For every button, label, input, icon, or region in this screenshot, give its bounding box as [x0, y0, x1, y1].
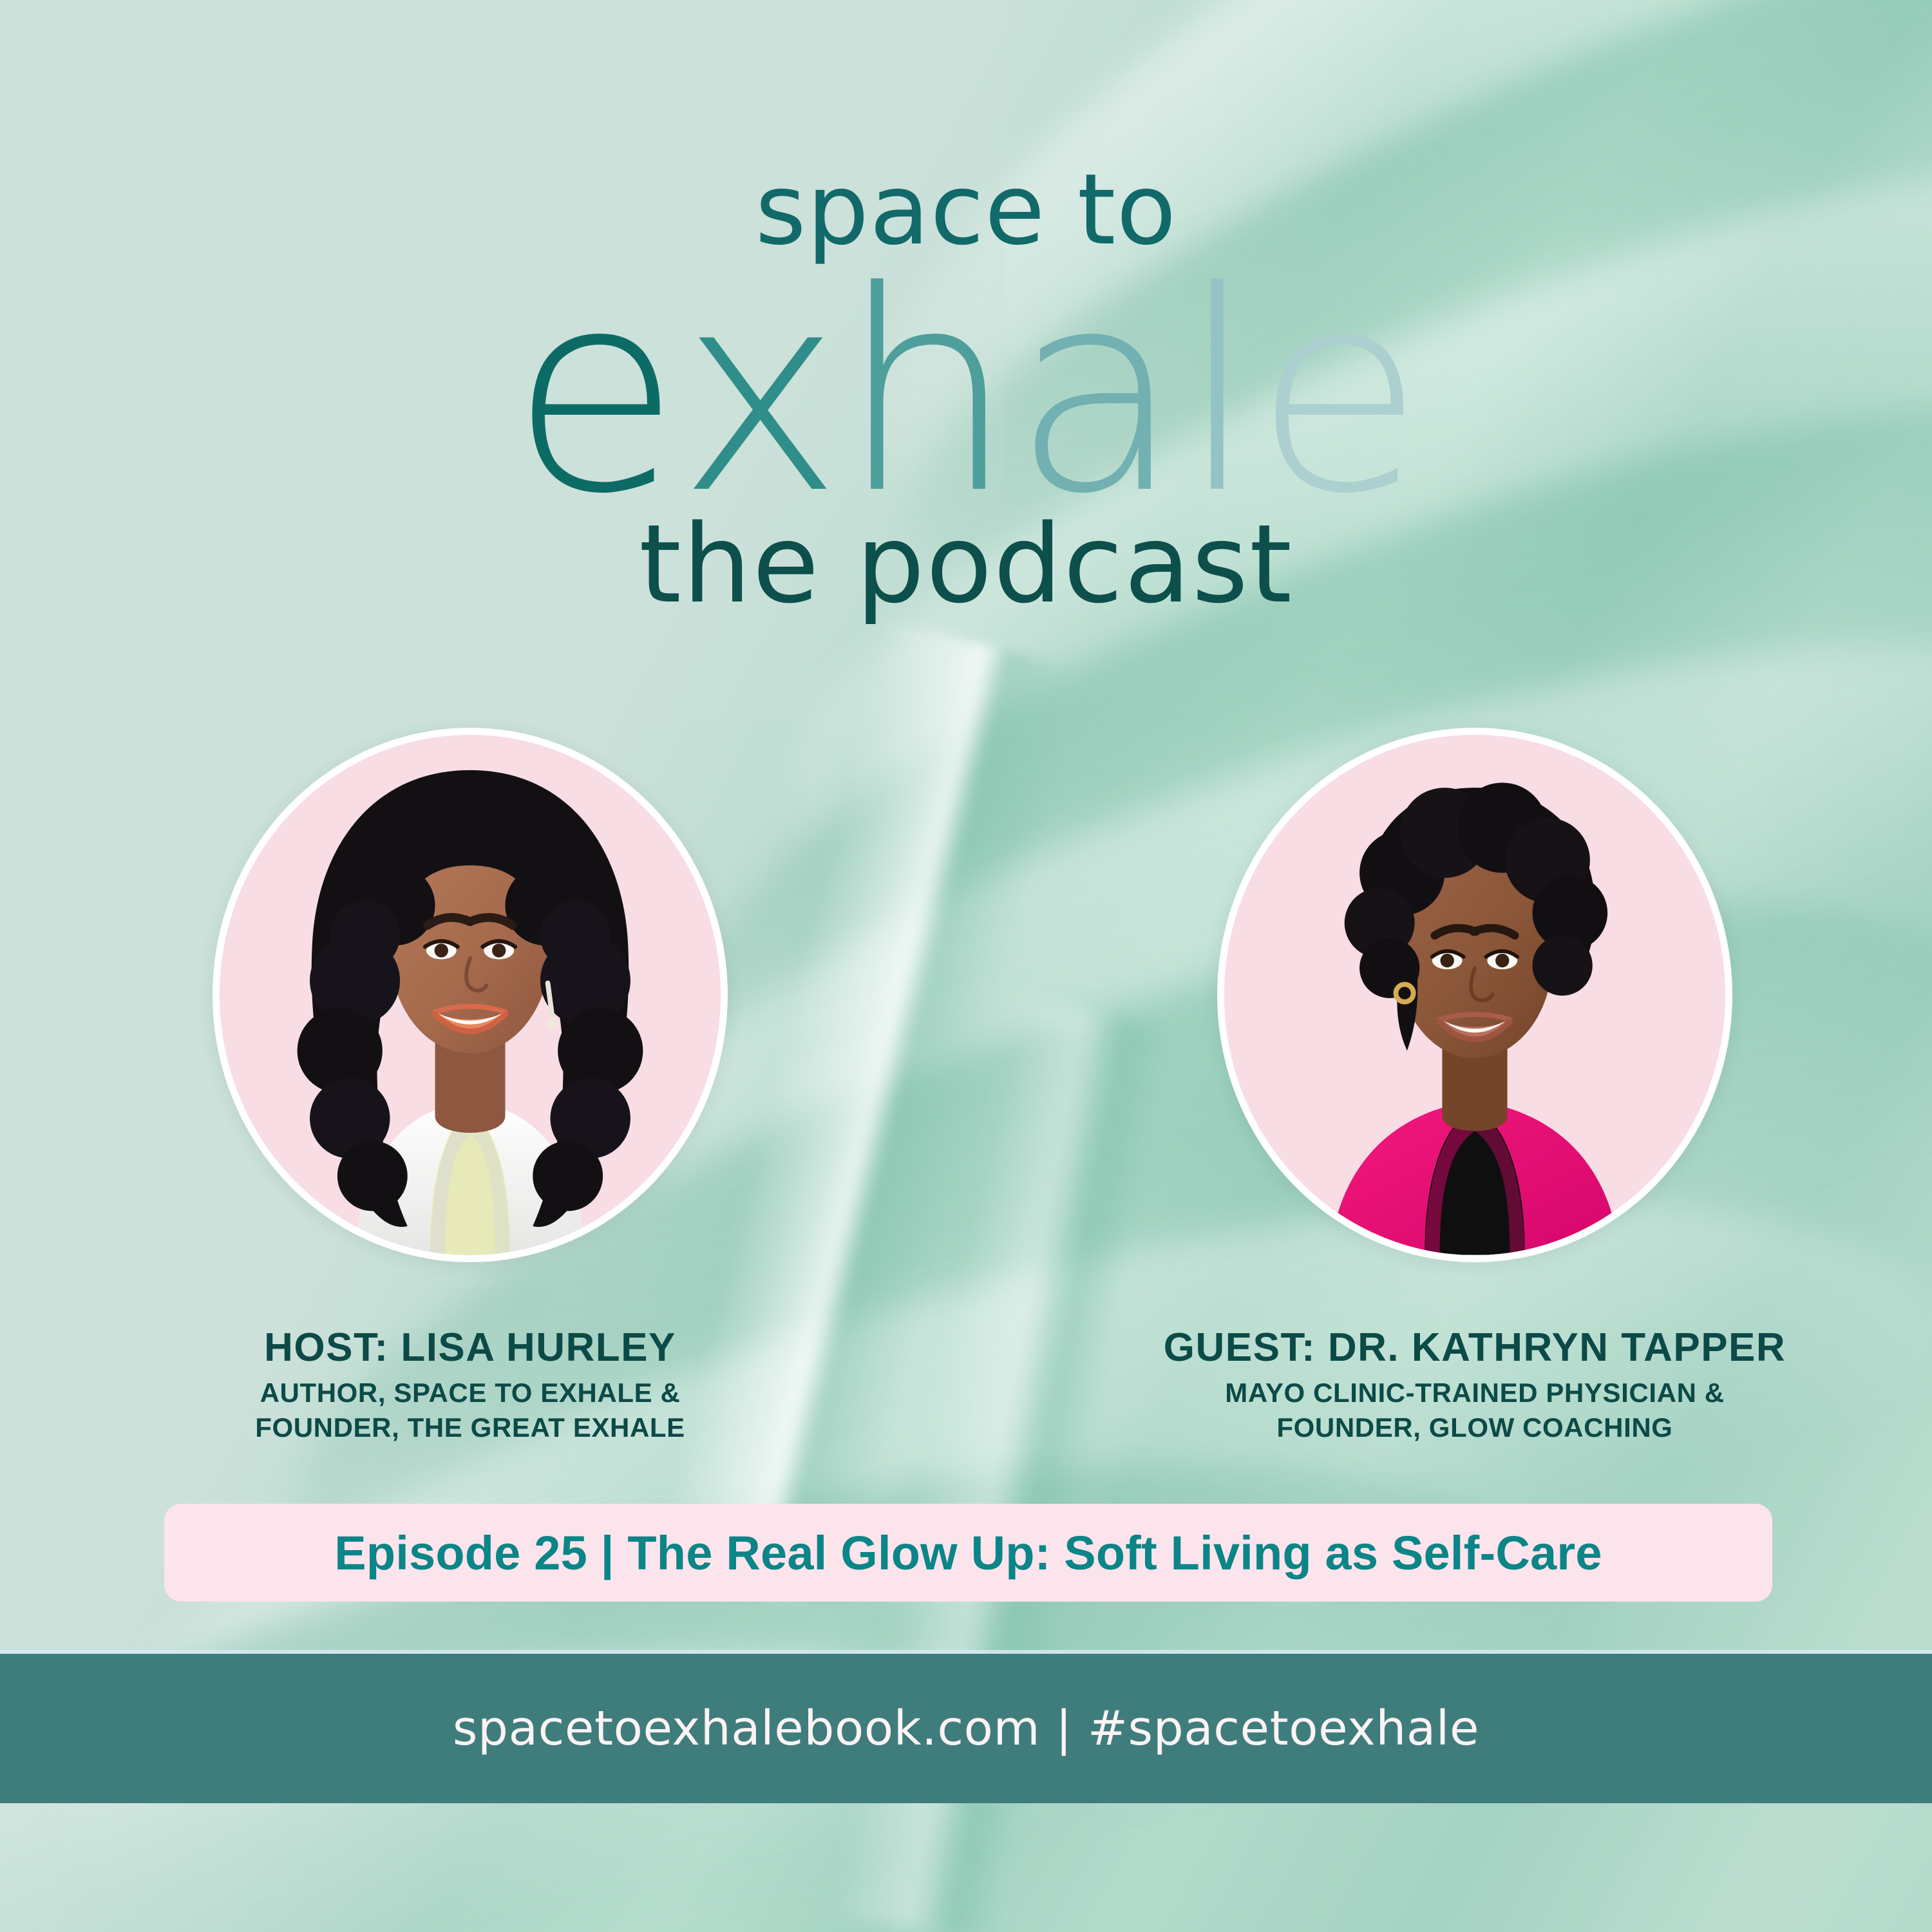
logo-line-the-podcast: the podcast — [0, 510, 1932, 618]
silk-crease — [652, 621, 1086, 1608]
logo-letter-h: h — [839, 255, 1012, 532]
guest-avatar — [1217, 728, 1732, 1262]
episode-title-banner: Episode 25 | The Real Glow Up: Soft Livi… — [164, 1504, 1772, 1602]
logo-letter-x: x — [678, 255, 839, 532]
logo-word-exhale: exhale — [0, 255, 1932, 532]
guest-role-line-2: FOUNDER, GLOW COACHING — [1121, 1410, 1829, 1445]
host-role: AUTHOR, SPACE TO EXHALE & FOUNDER, THE G… — [116, 1376, 824, 1445]
logo-letter-a: a — [1012, 255, 1180, 532]
host-photo — [220, 735, 721, 1255]
host-name: HOST: LISA HURLEY — [116, 1327, 824, 1370]
logo-letter-l: l — [1180, 255, 1254, 532]
guest-role: MAYO CLINIC-TRAINED PHYSICIAN & FOUNDER,… — [1121, 1376, 1829, 1445]
host-avatar — [213, 728, 728, 1262]
footer-bar: spacetoexhalebook.com | #spacetoexhale — [0, 1654, 1932, 1803]
footer-website-hashtag[interactable]: spacetoexhalebook.com | #spacetoexhale — [453, 1701, 1479, 1756]
episode-title-text: Episode 25 | The Real Glow Up: Soft Livi… — [334, 1526, 1602, 1580]
host-caption: HOST: LISA HURLEY AUTHOR, SPACE TO EXHAL… — [116, 1327, 824, 1444]
guest-caption: GUEST: DR. KATHRYN TAPPER MAYO CLINIC-TR… — [1121, 1327, 1829, 1444]
host-role-line-2: FOUNDER, THE GREAT EXHALE — [116, 1410, 824, 1445]
podcast-episode-poster: space to exhale the podcast — [0, 0, 1932, 1932]
logo-letter-e1: e — [510, 255, 678, 532]
guest-name: GUEST: DR. KATHRYN TAPPER — [1121, 1327, 1829, 1370]
brand-logo: space to exhale the podcast — [0, 161, 1932, 618]
guest-photo — [1224, 735, 1725, 1255]
guest-role-line-1: MAYO CLINIC-TRAINED PHYSICIAN & — [1121, 1376, 1829, 1410]
logo-letter-e2: e — [1254, 255, 1422, 532]
host-role-line-1: AUTHOR, SPACE TO EXHALE & — [116, 1376, 824, 1410]
